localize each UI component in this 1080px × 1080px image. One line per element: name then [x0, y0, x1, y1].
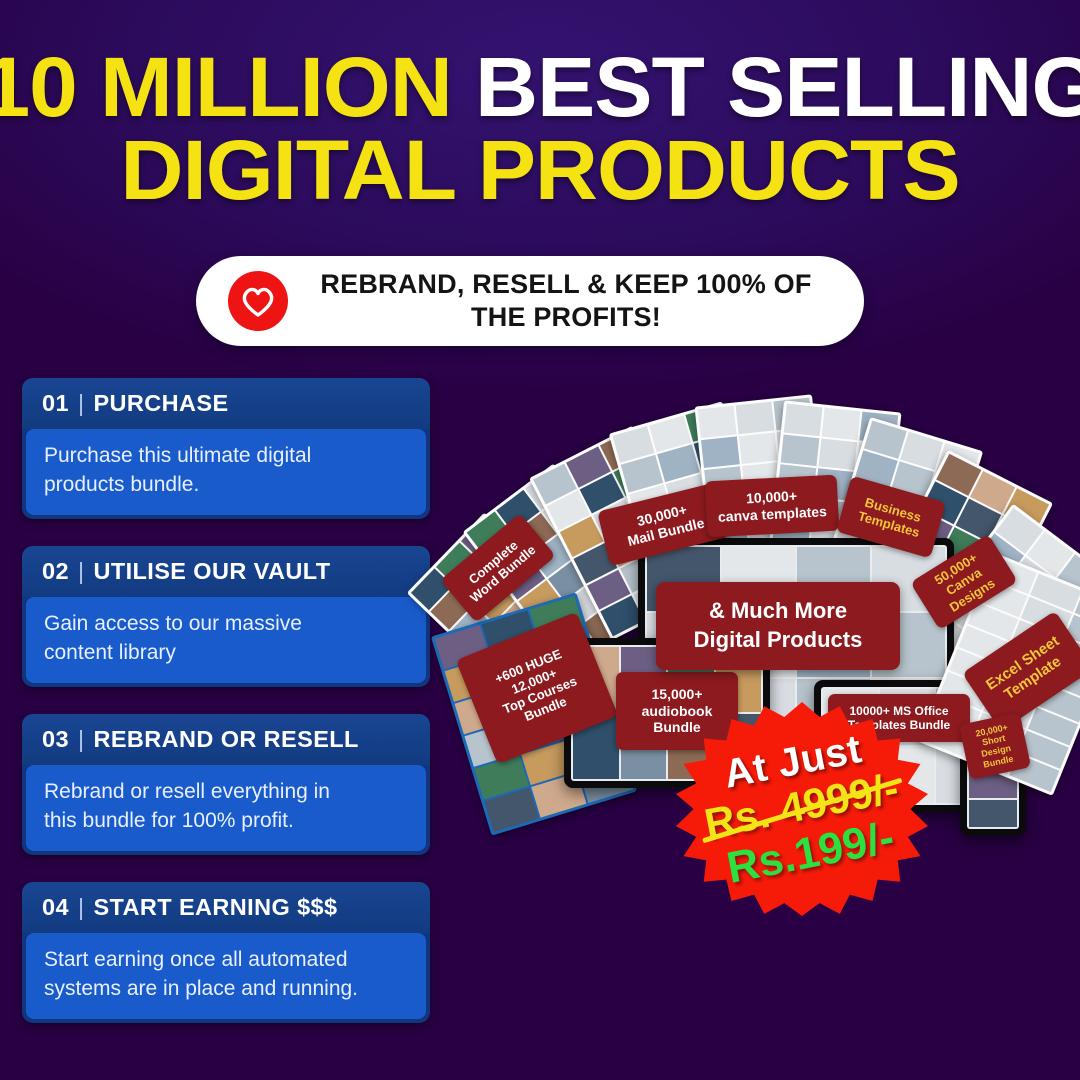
headline-highlight: 10 MILLION [0, 40, 452, 134]
step-body-03: Rebrand or resell everything in this bun… [26, 765, 426, 851]
tag-line-1: 15,000+ [652, 686, 703, 703]
step-body-line-2: this bundle for 100% profit. [44, 807, 408, 836]
badge-line-1: REBRAND, RESELL & KEEP 100% [320, 269, 766, 299]
step-body-line-2: products bundle. [44, 471, 408, 500]
step-separator: | [78, 558, 85, 585]
step-separator: | [78, 894, 85, 921]
step-body-line-2: content library [44, 639, 408, 668]
page-title: 10 MILLION BEST SELLING DIGITAL PRODUCTS [0, 46, 1080, 212]
badge-text: REBRAND, RESELL & KEEP 100% OF THE PROFI… [288, 268, 864, 334]
step-title: UTILISE OUR VAULT [93, 558, 330, 585]
step-card-01[interactable]: 01 | PURCHASE Purchase this ultimate dig… [22, 378, 430, 519]
headline-rest: BEST SELLING [475, 40, 1080, 134]
much-more-banner: & Much More Digital Products [656, 582, 900, 670]
promo-graphic: 10 MILLION BEST SELLING DIGITAL PRODUCTS… [0, 0, 1080, 1080]
step-body-04: Start earning once all automated systems… [26, 933, 426, 1019]
step-body-01: Purchase this ultimate digital products … [26, 429, 426, 515]
step-header-02: 02 | UTILISE OUR VAULT [22, 546, 430, 597]
step-card-02[interactable]: 02 | UTILISE OUR VAULT Gain access to ou… [22, 546, 430, 687]
price-burst: At Just Rs. 4999/- Rs.199/- [676, 702, 928, 916]
step-header-01: 01 | PURCHASE [22, 378, 430, 429]
heart-icon [228, 271, 288, 331]
headline-line-1: 10 MILLION BEST SELLING [0, 46, 1080, 129]
price-burst-text: At Just Rs. 4999/- Rs.199/- [658, 680, 946, 938]
step-header-03: 03 | REBRAND OR RESELL [22, 714, 430, 765]
step-number: 03 [42, 726, 69, 753]
step-body-line-2: systems are in place and running. [44, 975, 408, 1004]
headline-line-2: DIGITAL PRODUCTS [0, 129, 1080, 212]
step-separator: | [78, 726, 85, 753]
much-more-line-2: Digital Products [694, 626, 863, 655]
step-separator: | [78, 390, 85, 417]
step-body-line-1: Start earning once all automated [44, 946, 408, 975]
step-number: 04 [42, 894, 69, 921]
step-number: 02 [42, 558, 69, 585]
step-card-03[interactable]: 03 | REBRAND OR RESELL Rebrand or resell… [22, 714, 430, 855]
steps-list: 01 | PURCHASE Purchase this ultimate dig… [22, 378, 430, 1050]
step-title: PURCHASE [93, 390, 228, 417]
step-title: START EARNING $$$ [93, 894, 337, 921]
status-badge: REBRAND, RESELL & KEEP 100% OF THE PROFI… [196, 256, 864, 346]
tag-line-2: canva templates [718, 503, 828, 525]
step-body-line-1: Purchase this ultimate digital [44, 442, 408, 471]
step-body-line-1: Rebrand or resell everything in [44, 778, 408, 807]
step-header-04: 04 | START EARNING $$$ [22, 882, 430, 933]
step-body-02: Gain access to our massive content libra… [26, 597, 426, 683]
step-title: REBRAND OR RESELL [93, 726, 358, 753]
much-more-line-1: & Much More [709, 597, 847, 626]
step-card-04[interactable]: 04 | START EARNING $$$ Start earning onc… [22, 882, 430, 1023]
step-number: 01 [42, 390, 69, 417]
step-body-line-1: Gain access to our massive [44, 610, 408, 639]
canva-templates-tag: 10,000+ canva templates [705, 475, 840, 538]
